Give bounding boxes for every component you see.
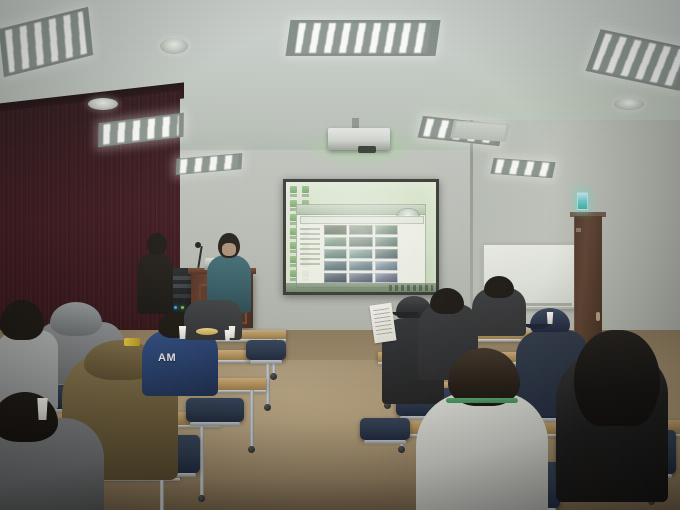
panel-mid-center xyxy=(285,20,440,56)
table-leg xyxy=(160,478,164,510)
seminar-room-photo: AM xyxy=(0,0,680,510)
photo-thumbnail xyxy=(375,225,398,235)
photo-thumbnail xyxy=(324,249,347,259)
chair-rail xyxy=(190,422,240,426)
panel-dim-left xyxy=(450,120,510,142)
attendee-dark-jacket-hair xyxy=(430,288,464,314)
fluorescent-tubes xyxy=(295,23,431,54)
exit-sign-icon xyxy=(577,192,588,210)
computer-icon xyxy=(290,186,297,197)
door-hinge xyxy=(576,228,581,232)
attendee-long-hair-hair xyxy=(574,330,660,426)
photo-thumbnail xyxy=(349,249,372,259)
file-explorer-window xyxy=(296,204,426,288)
chair-rail xyxy=(250,360,282,364)
explorer-task-pane xyxy=(299,225,321,285)
door-handle[interactable] xyxy=(596,312,600,321)
photo-thumbnail xyxy=(324,261,347,271)
chair-back[interactable] xyxy=(246,340,286,360)
thumbnail-grid xyxy=(324,225,398,285)
sweater-collar-trim xyxy=(446,398,518,403)
table-caster xyxy=(248,446,255,453)
table-leg xyxy=(250,390,254,446)
projection-screen xyxy=(286,182,436,292)
photo-thumbnail xyxy=(324,237,347,247)
table-caster xyxy=(264,404,271,411)
photo-thumbnail xyxy=(375,273,398,283)
attendee-gray-hoodie-hood xyxy=(50,302,102,336)
table-caster xyxy=(398,446,405,453)
chair-back[interactable] xyxy=(360,418,410,440)
downlight-center xyxy=(160,38,188,54)
photo-thumbnail xyxy=(375,249,398,259)
presenter-left-body xyxy=(137,252,173,314)
table-leg xyxy=(266,360,270,404)
downlight-right xyxy=(614,98,644,110)
jacket-wordmark: AM xyxy=(158,352,176,364)
fluorescent-tubes xyxy=(454,122,506,141)
microphone-icon xyxy=(195,242,201,248)
attendee-white-sweater xyxy=(416,392,548,510)
photo-thumbnail xyxy=(324,225,347,235)
presenter-right-face xyxy=(222,243,236,256)
photo-thumbnail xyxy=(349,261,372,271)
jacket-shoulder-stripe xyxy=(124,338,140,346)
attendee-back-row-hair xyxy=(484,276,514,298)
table-caster xyxy=(270,373,277,380)
fluorescent-tubes xyxy=(494,159,551,176)
photo-thumbnail xyxy=(349,273,372,283)
presenter-left-head xyxy=(147,233,167,255)
photo-thumbnail xyxy=(375,261,398,271)
projector-lens-icon xyxy=(358,146,376,153)
folder-icon xyxy=(302,186,309,197)
snack-plate xyxy=(196,328,218,335)
photo-thumbnail xyxy=(375,237,398,247)
table-leg xyxy=(200,425,204,495)
explorer-address-bar xyxy=(300,216,424,224)
chair-rail xyxy=(364,440,406,444)
system-tray xyxy=(389,285,433,291)
table-caster xyxy=(198,495,205,502)
photo-thumbnail xyxy=(349,225,372,235)
chair-back[interactable] xyxy=(186,398,244,422)
photo-thumbnail xyxy=(324,273,347,283)
photo-thumbnail xyxy=(349,237,372,247)
windows-taskbar xyxy=(286,283,436,292)
downlight-left xyxy=(88,98,118,110)
